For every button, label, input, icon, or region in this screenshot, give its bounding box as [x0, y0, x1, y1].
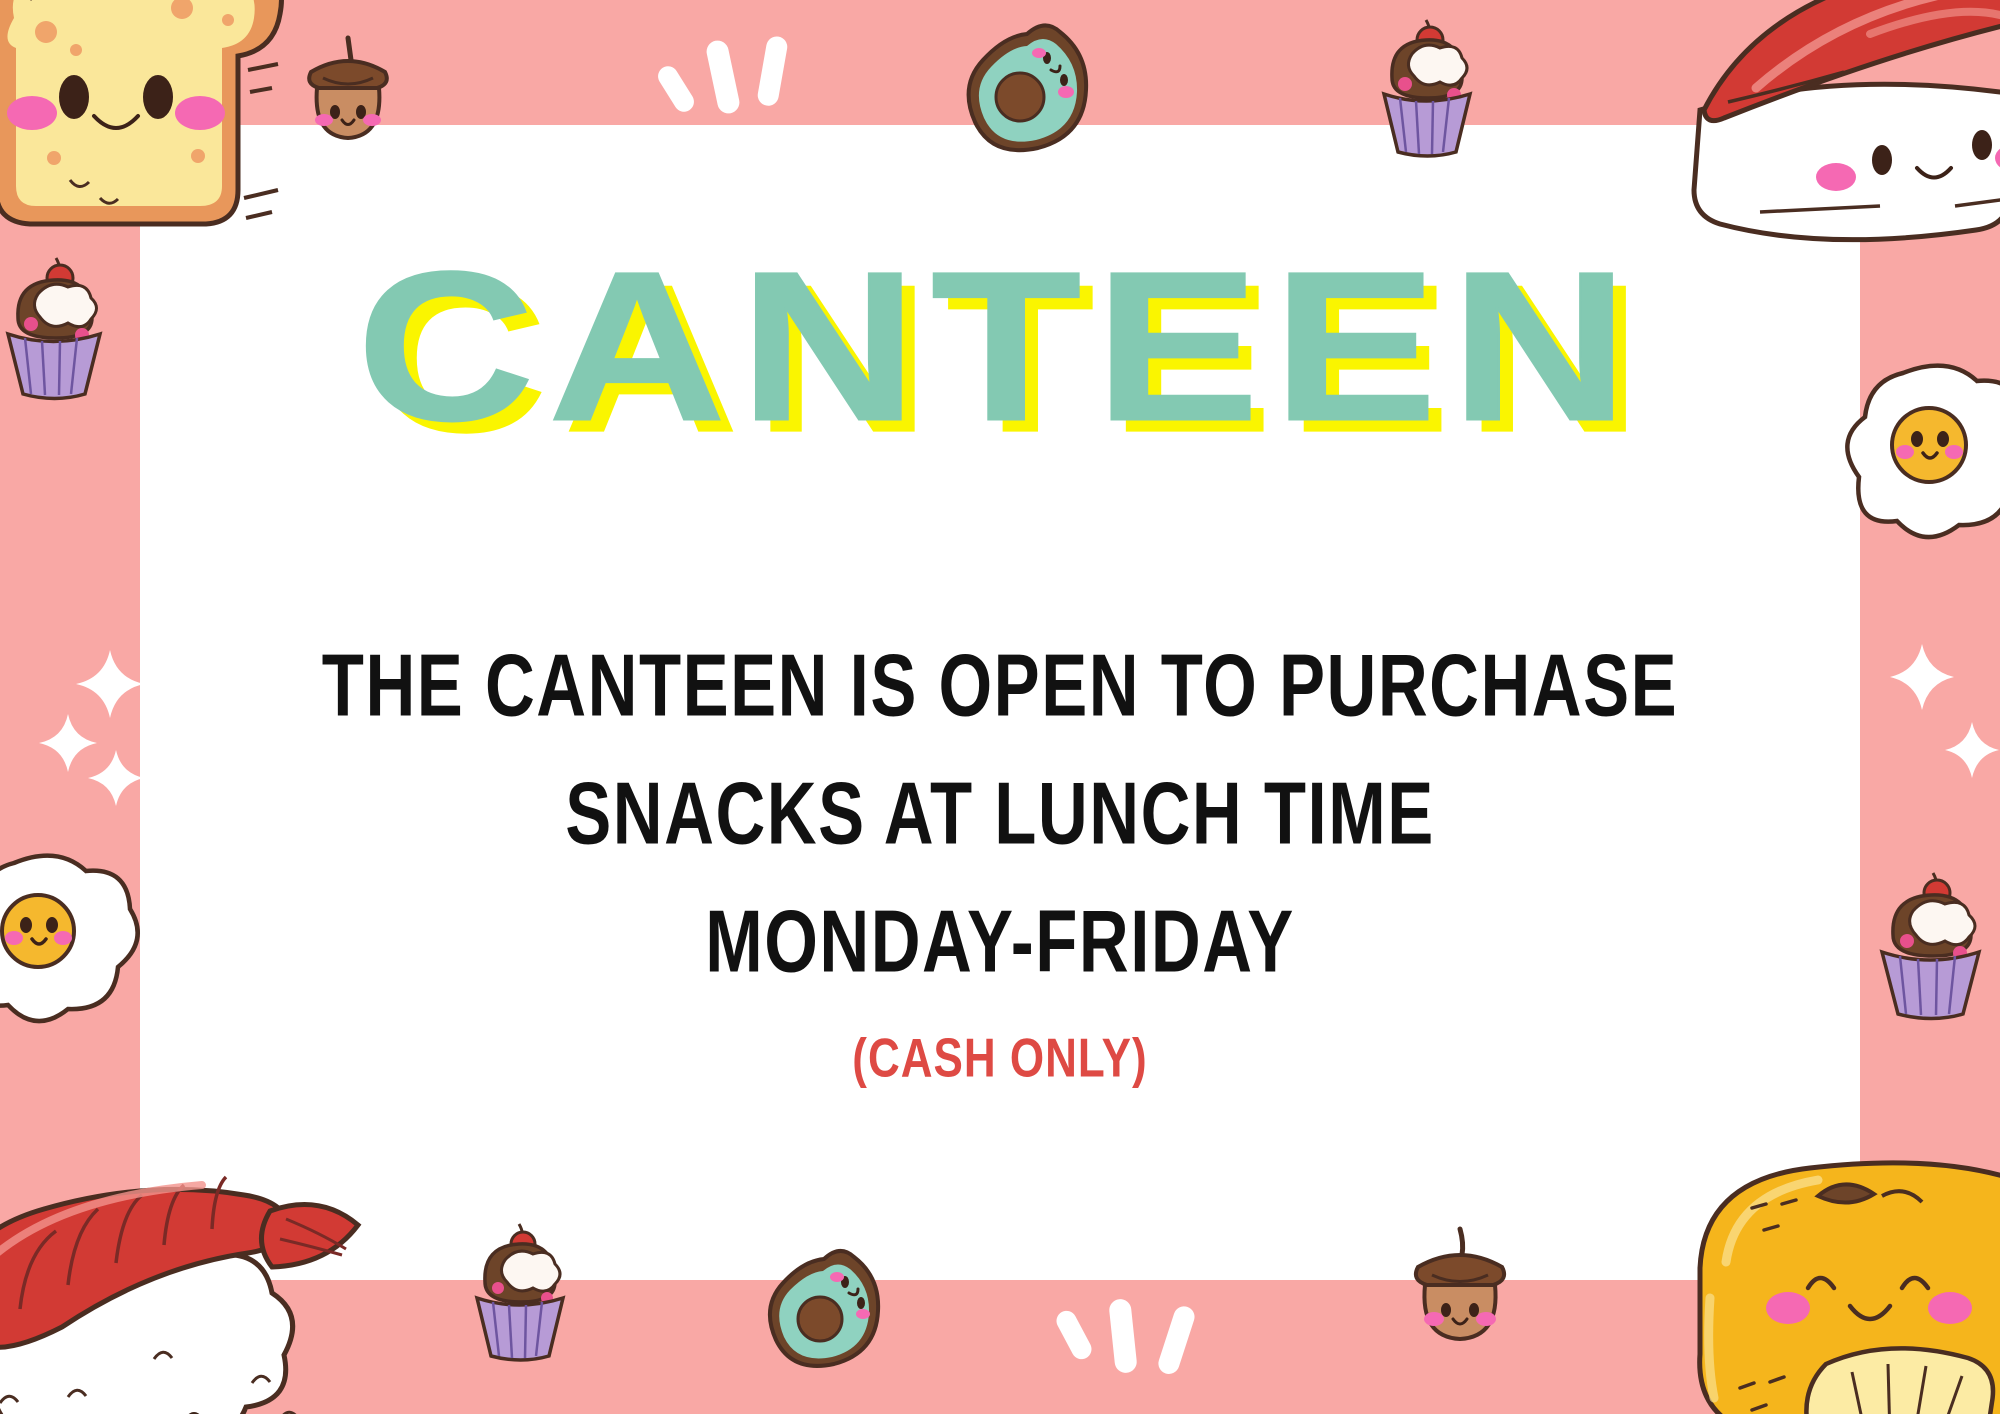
page-title: CANTEEN [357, 241, 1642, 453]
toast-icon [0, 0, 300, 240]
shrimp-nigiri-icon [0, 1115, 380, 1414]
sparkle-icon [20, 640, 150, 830]
body-line-2: SNACKS AT LUNCH TIME [140, 753, 1860, 875]
sparkle-icon [1880, 630, 2000, 820]
body-line-3: MONDAY-FRIDAY [140, 881, 1860, 1003]
salmon-nigiri-icon [1600, 0, 2000, 260]
body-line-1: THE CANTEEN IS OPEN TO PURCHASE [140, 625, 1860, 747]
orange-icon [1630, 1148, 2000, 1414]
poster-body: THE CANTEEN IS OPEN TO PURCHASE SNACKS A… [140, 626, 1860, 1084]
sparkle-icon [1050, 1285, 1220, 1390]
canteen-poster: CANTEEN THE CANTEEN IS OPEN TO PURCHASE … [0, 0, 2000, 1414]
fried-egg-icon [1855, 355, 2000, 540]
cupcake-icon [1855, 865, 2000, 1020]
poster-content: CANTEEN THE CANTEEN IS OPEN TO PURCHASE … [140, 125, 1860, 1280]
fried-egg-icon [0, 845, 140, 1025]
cash-only-note: (CASH ONLY) [140, 1027, 1860, 1090]
cupcake-icon [0, 250, 124, 400]
sparkle-icon [650, 30, 810, 130]
